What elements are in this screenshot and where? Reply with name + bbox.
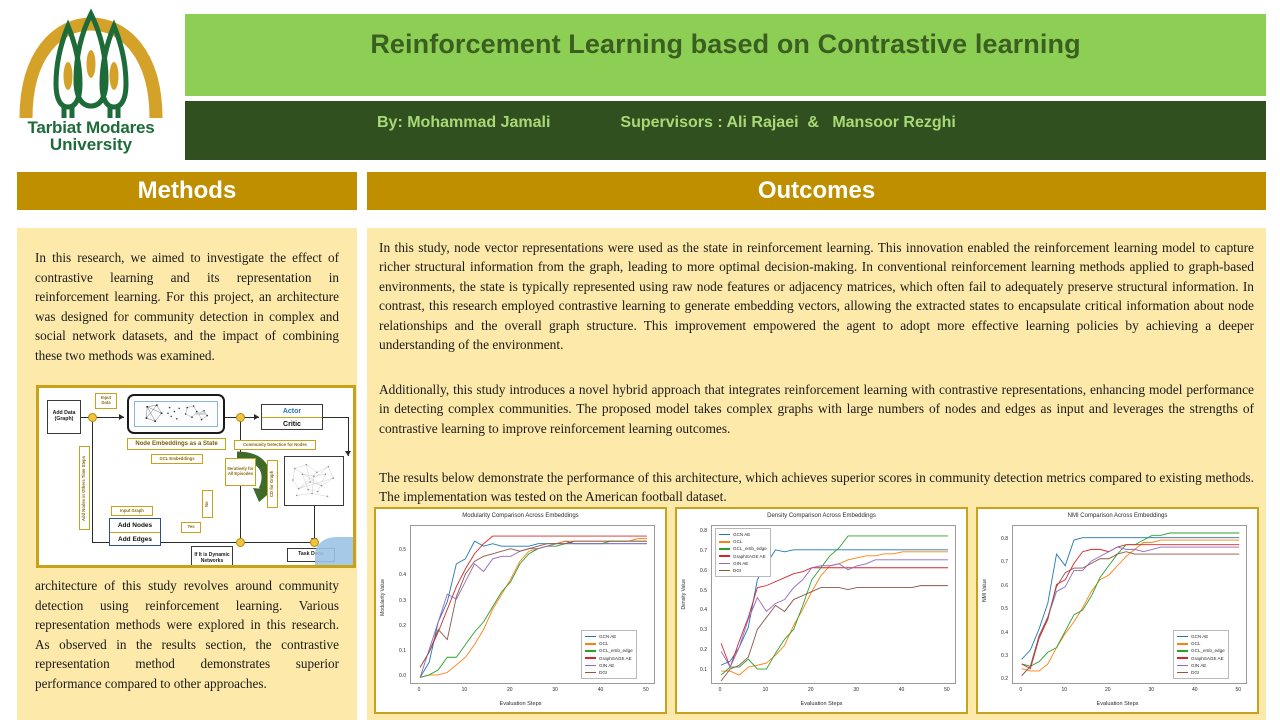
modularity-chart-ytick: 0.3: [388, 598, 406, 604]
density-chart-ytick: 0.6: [689, 568, 707, 574]
outcomes-paragraph-1: In this study, node vector representatio…: [379, 238, 1254, 354]
page-title: Reinforcement Learning based on Contrast…: [185, 29, 1266, 60]
legend-item-GIN AE: GIN AE: [719, 560, 767, 567]
diagram-node-dynamic-networks: If It is Dynamic Networks: [191, 546, 233, 568]
density-chart-xtick: 50: [938, 687, 956, 693]
methods-paragraph-1: In this research, we aimed to investigat…: [35, 248, 339, 366]
density-chart-ytick: 0.4: [689, 607, 707, 613]
chart-nmi: NMI Comparison Across Embeddings0.20.30.…: [976, 507, 1259, 714]
density-chart-ytick: 0.7: [689, 548, 707, 554]
modularity-chart-ytick: 0.5: [388, 547, 406, 553]
diagram-node-critic: Critic: [262, 418, 322, 430]
modularity-chart-ytick: 0.0: [388, 673, 406, 679]
legend-item-GCN AE: GCN AE: [1177, 633, 1225, 640]
outcomes-paragraph-2: Additionally, this study introduces a no…: [379, 380, 1254, 438]
legend-swatch-icon: [719, 534, 730, 536]
diagram-label-yes: Yes: [181, 522, 201, 533]
legend-swatch-icon: [585, 636, 596, 638]
legend-label: GCL_emb_edge: [733, 546, 767, 551]
density-chart-xlabel: Evaluation Steps: [677, 701, 966, 707]
diagram-label-iteratively: Iteratively for All Episodes: [225, 458, 256, 486]
diagram-label-input-graph: Input Graph: [111, 506, 153, 516]
outcomes-panel: In this study, node vector representatio…: [367, 228, 1266, 720]
legend-label: GIN AE: [733, 561, 748, 566]
diagram-label-community-detection-nodes: Community Detection for Nodes: [234, 440, 316, 450]
legend-label: GraphSAGE AE: [733, 554, 766, 559]
logo-line-2: University: [27, 136, 154, 153]
nmi-chart-ytick: 0.7: [990, 559, 1008, 565]
diagram-junction-2: [236, 413, 245, 422]
legend-swatch-icon: [1177, 650, 1188, 652]
nmi-chart-legend: GCN AEGCLGCL_emb_edgeGraphSAGE AEGIN AED…: [1173, 630, 1229, 679]
legend-item-GraphSAGE AE: GraphSAGE AE: [585, 655, 633, 662]
modularity-chart-ytick: 0.1: [388, 648, 406, 654]
modularity-chart-legend: GCN AEGCLGCL_emb_edgeGraphSAGE AEGIN AED…: [581, 630, 637, 679]
legend-item-GIN AE: GIN AE: [1177, 662, 1225, 669]
nmi-chart-title: NMI Comparison Across Embeddings: [978, 513, 1257, 519]
legend-item-DGI: DGI: [719, 567, 767, 574]
legend-item-GraphSAGE AE: GraphSAGE AE: [719, 553, 767, 560]
legend-swatch-icon: [585, 657, 596, 659]
diagram-label-cd-for-graph: CD for Graph: [267, 460, 278, 508]
legend-label: DGI: [733, 568, 741, 573]
nmi-chart-ytick: 0.2: [990, 676, 1008, 682]
diagram-node-add-nodes: Add Nodes: [110, 519, 160, 533]
legend-label: GCN AE: [599, 634, 616, 639]
legend-item-DGI: DGI: [1177, 669, 1225, 676]
legend-swatch-icon: [1177, 643, 1188, 645]
legend-swatch-icon: [585, 643, 596, 645]
diagram-corner-decoration: [315, 537, 356, 568]
legend-item-GIN AE: GIN AE: [585, 662, 633, 669]
modularity-chart-xlabel: Evaluation Steps: [376, 701, 665, 707]
nmi-chart-ytick: 0.8: [990, 536, 1008, 542]
modularity-chart-xtick: 0: [410, 687, 428, 693]
legend-swatch-icon: [585, 650, 596, 652]
legend-label: DGI: [599, 670, 607, 675]
nmi-chart-xtick: 30: [1142, 687, 1160, 693]
legend-swatch-icon: [719, 570, 730, 572]
density-chart-legend: GCN AEGCLGCL_emb_edgeGraphSAGE AEGIN AED…: [715, 528, 771, 577]
legend-item-GCL: GCL: [1177, 640, 1225, 647]
density-chart-xtick: 20: [802, 687, 820, 693]
chart-density: Density Comparison Across Embeddings0.10…: [675, 507, 968, 714]
legend-swatch-icon: [719, 548, 730, 550]
authors-bar: By: Mohammad Jamali Supervisors : Ali Ra…: [185, 101, 1266, 160]
modularity-chart-ylabel: Modularity Value: [380, 579, 386, 616]
legend-item-GCL_emb_edge: GCL_emb_edge: [719, 545, 767, 552]
modularity-chart-ytick: 0.4: [388, 572, 406, 578]
diagram-node-add-nodes-edges: Add Nodes Add Edges: [109, 518, 161, 546]
outcomes-paragraph-3: The results below demonstrate the perfor…: [379, 468, 1254, 507]
modularity-chart-xtick: 40: [592, 687, 610, 693]
diagram-node-actor-critic: Actor Critic: [261, 404, 323, 430]
section-header-methods-label: Methods: [138, 177, 237, 205]
legend-swatch-icon: [719, 555, 730, 557]
legend-item-GCL_emb_edge: GCL_emb_edge: [585, 647, 633, 654]
legend-label: GIN AE: [599, 663, 614, 668]
density-chart-xtick: 40: [893, 687, 911, 693]
diagram-label-gcl-embeddings: GCL Embeddings: [151, 454, 203, 464]
legend-label: GCL_emb_edge: [1191, 648, 1225, 653]
legend-label: DGI: [1191, 670, 1199, 675]
modularity-chart-title: Modularity Comparison Across Embeddings: [376, 513, 665, 519]
section-header-methods: Methods: [17, 172, 357, 210]
legend-item-DGI: DGI: [585, 669, 633, 676]
legend-label: GCN AE: [1191, 634, 1208, 639]
legend-swatch-icon: [585, 665, 596, 667]
logo-mark-icon: [16, 6, 166, 121]
modularity-chart-xtick: 30: [546, 687, 564, 693]
density-chart-xtick: 30: [847, 687, 865, 693]
density-chart-ytick: 0.2: [689, 647, 707, 653]
diagram-node-actor: Actor: [262, 405, 322, 418]
diagram-label-add-nodes-other-steps: Add Nodes in Others Time Steps: [79, 446, 90, 530]
density-chart-ylabel: Density Value: [681, 579, 687, 609]
legend-swatch-icon: [719, 563, 730, 565]
density-chart-ytick: 0.1: [689, 667, 707, 673]
legend-label: GraphSAGE AE: [599, 656, 632, 661]
modularity-chart-ytick: 0.2: [388, 623, 406, 629]
density-chart-xtick: 10: [756, 687, 774, 693]
diagram-community-graph-image: [284, 456, 344, 506]
modularity-chart-xtick: 10: [455, 687, 473, 693]
density-chart-ytick: 0.8: [689, 528, 707, 534]
university-logo: Tarbiat Modares University: [0, 0, 182, 163]
legend-swatch-icon: [1177, 665, 1188, 667]
section-header-outcomes: Outcomes: [367, 172, 1266, 210]
architecture-diagram: Add Data (Graph) Input Data: [36, 385, 356, 568]
legend-swatch-icon: [719, 541, 730, 543]
diagram-label-node-embeddings: Node Embeddings as a State: [127, 438, 226, 450]
diagram-embedding-panel: [127, 394, 225, 434]
legend-label: GCL_emb_edge: [599, 648, 633, 653]
chart-modularity: Modularity Comparison Across Embeddings0…: [374, 507, 667, 714]
methods-panel: In this research, we aimed to investigat…: [17, 228, 357, 720]
nmi-chart-ytick: 0.6: [990, 583, 1008, 589]
legend-item-GCL: GCL: [585, 640, 633, 647]
legend-item-GCL_emb_edge: GCL_emb_edge: [1177, 647, 1225, 654]
diagram-tag-input-data: Input Data: [95, 393, 117, 409]
legend-label: GCL: [733, 539, 742, 544]
methods-paragraph-2: architecture of this study revolves arou…: [35, 576, 339, 694]
density-chart-title: Density Comparison Across Embeddings: [677, 513, 966, 519]
legend-label: GIN AE: [1191, 663, 1206, 668]
legend-item-GCN AE: GCN AE: [585, 633, 633, 640]
author-name: By: Mohammad Jamali: [377, 114, 550, 132]
density-chart-ytick: 0.3: [689, 627, 707, 633]
supervisors-name: Supervisors : Ali Rajaei & Mansoor Rezgh…: [620, 114, 955, 132]
legend-label: GraphSAGE AE: [1191, 656, 1224, 661]
nmi-chart-ytick: 0.3: [990, 653, 1008, 659]
nmi-chart-ytick: 0.4: [990, 630, 1008, 636]
diagram-node-add-edges: Add Edges: [110, 533, 160, 545]
nmi-chart-xlabel: Evaluation Steps: [978, 701, 1257, 707]
legend-label: GCL: [599, 641, 608, 646]
density-chart-xtick: 0: [711, 687, 729, 693]
logo-wordmark: Tarbiat Modares University: [27, 119, 154, 153]
density-chart-ytick: 0.5: [689, 588, 707, 594]
poster-title-bar: Reinforcement Learning based on Contrast…: [185, 14, 1266, 96]
legend-item-GCL: GCL: [719, 538, 767, 545]
legend-item-GCN AE: GCN AE: [719, 531, 767, 538]
diagram-node-add-data: Add Data (Graph): [47, 400, 81, 434]
nmi-chart-ytick: 0.5: [990, 606, 1008, 612]
nmi-chart-xtick: 50: [1229, 687, 1247, 693]
nmi-chart-xtick: 10: [1055, 687, 1073, 693]
nmi-chart-xtick: 0: [1012, 687, 1030, 693]
legend-label: GCL: [1191, 641, 1200, 646]
legend-label: GCN AE: [733, 532, 750, 537]
legend-swatch-icon: [1177, 636, 1188, 638]
legend-swatch-icon: [585, 672, 596, 674]
legend-swatch-icon: [1177, 657, 1188, 659]
legend-item-GraphSAGE AE: GraphSAGE AE: [1177, 655, 1225, 662]
nmi-chart-xtick: 20: [1099, 687, 1117, 693]
legend-swatch-icon: [1177, 672, 1188, 674]
poster-header: Tarbiat Modares University Reinforcement…: [0, 0, 1280, 163]
density-chart-series-GraphSAGE AE: [721, 568, 948, 667]
nmi-chart-ylabel: NMI Value: [982, 579, 988, 602]
section-header-outcomes-label: Outcomes: [758, 177, 875, 205]
modularity-chart-xtick: 20: [501, 687, 519, 693]
diagram-junction-1: [88, 413, 97, 422]
diagram-label-no: No: [202, 490, 213, 518]
diagram-junction-3: [236, 538, 245, 547]
modularity-chart-xtick: 50: [637, 687, 655, 693]
logo-line-1: Tarbiat Modares: [27, 119, 154, 136]
nmi-chart-xtick: 40: [1186, 687, 1204, 693]
